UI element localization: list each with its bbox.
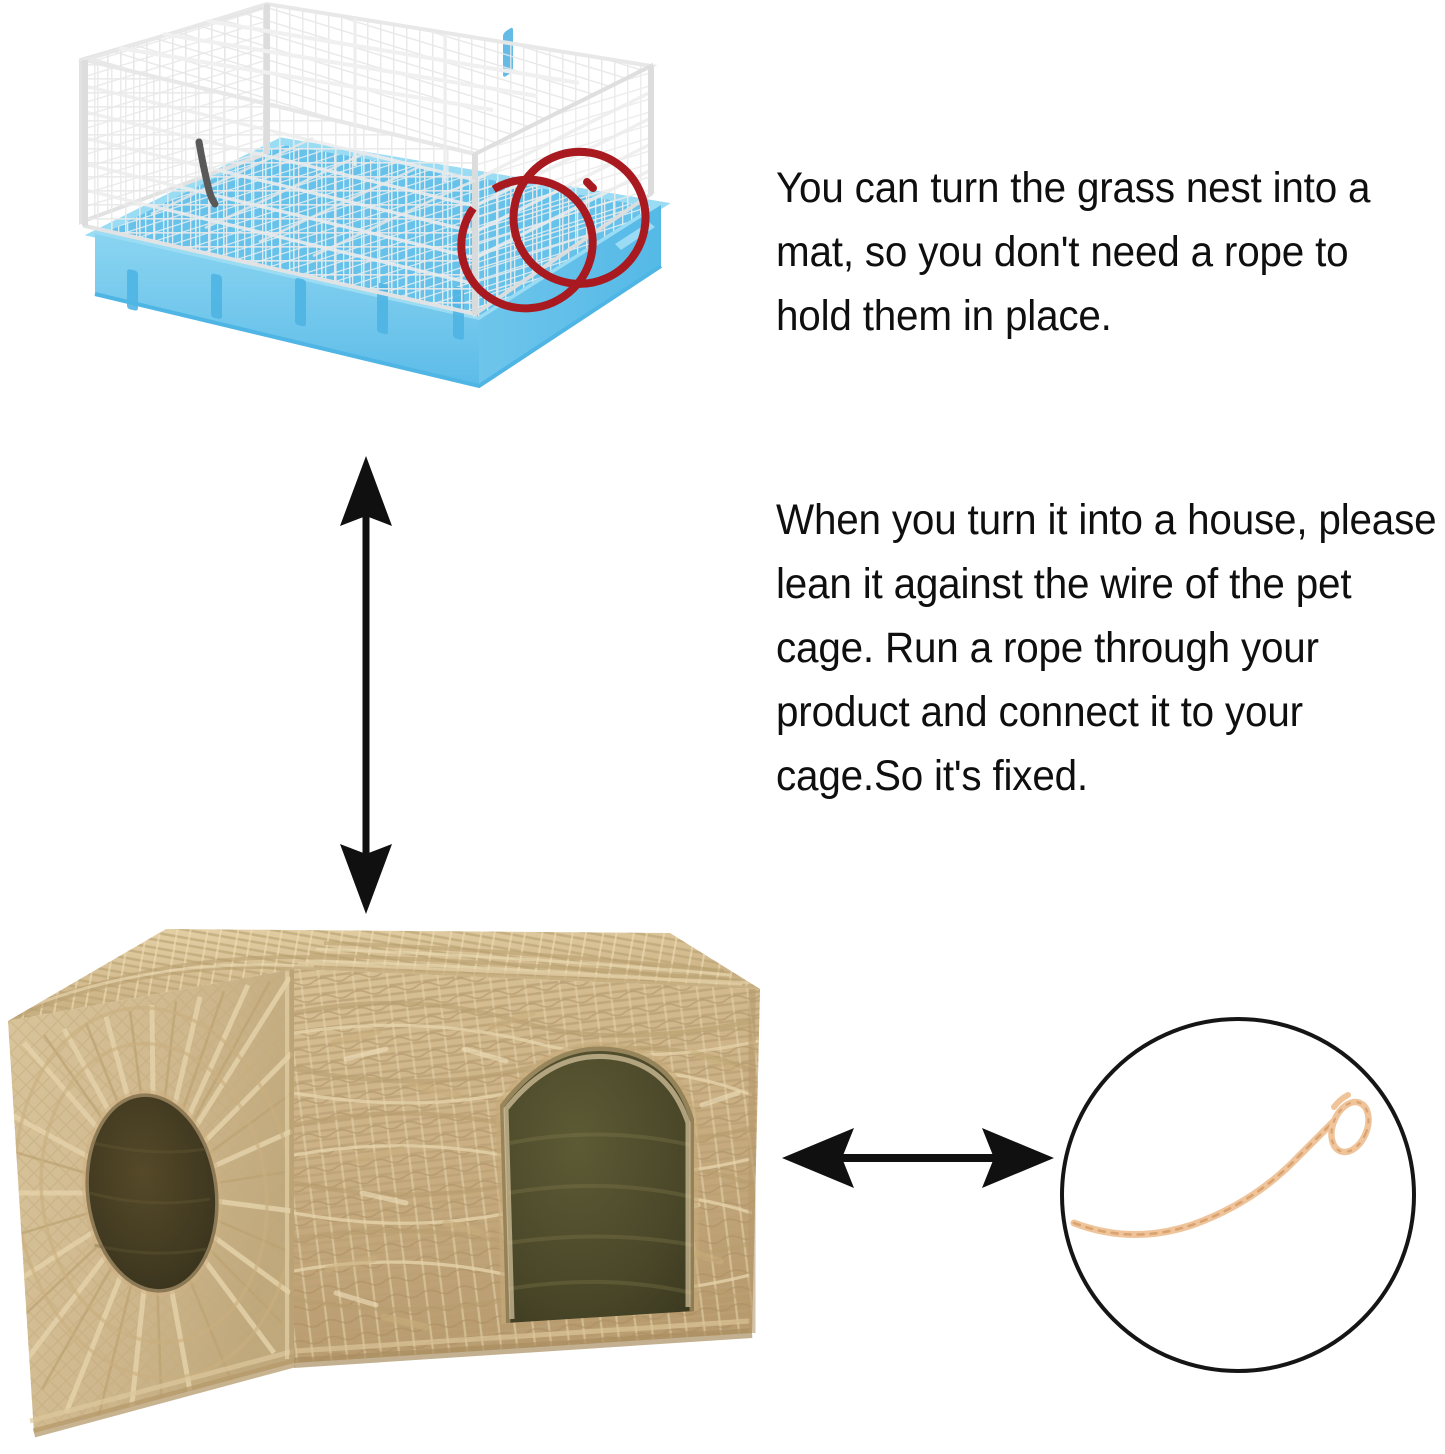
- mat-instruction-text: You can turn the grass nest into a mat, …: [776, 156, 1434, 348]
- horizontal-double-arrow: [778, 1118, 1058, 1198]
- woven-grass-house-illustration: [0, 893, 784, 1454]
- inset-circle-outline: [1062, 1019, 1414, 1371]
- house-instruction-text: When you turn it into a house, please le…: [776, 488, 1443, 808]
- vertical-double-arrow: [318, 450, 414, 920]
- product-instruction-image: You can turn the grass nest into a mat, …: [0, 0, 1445, 1454]
- house-front-face: [274, 933, 784, 1393]
- rope-detail-inset: [1038, 1005, 1438, 1385]
- pet-cage-illustration: [55, 0, 695, 434]
